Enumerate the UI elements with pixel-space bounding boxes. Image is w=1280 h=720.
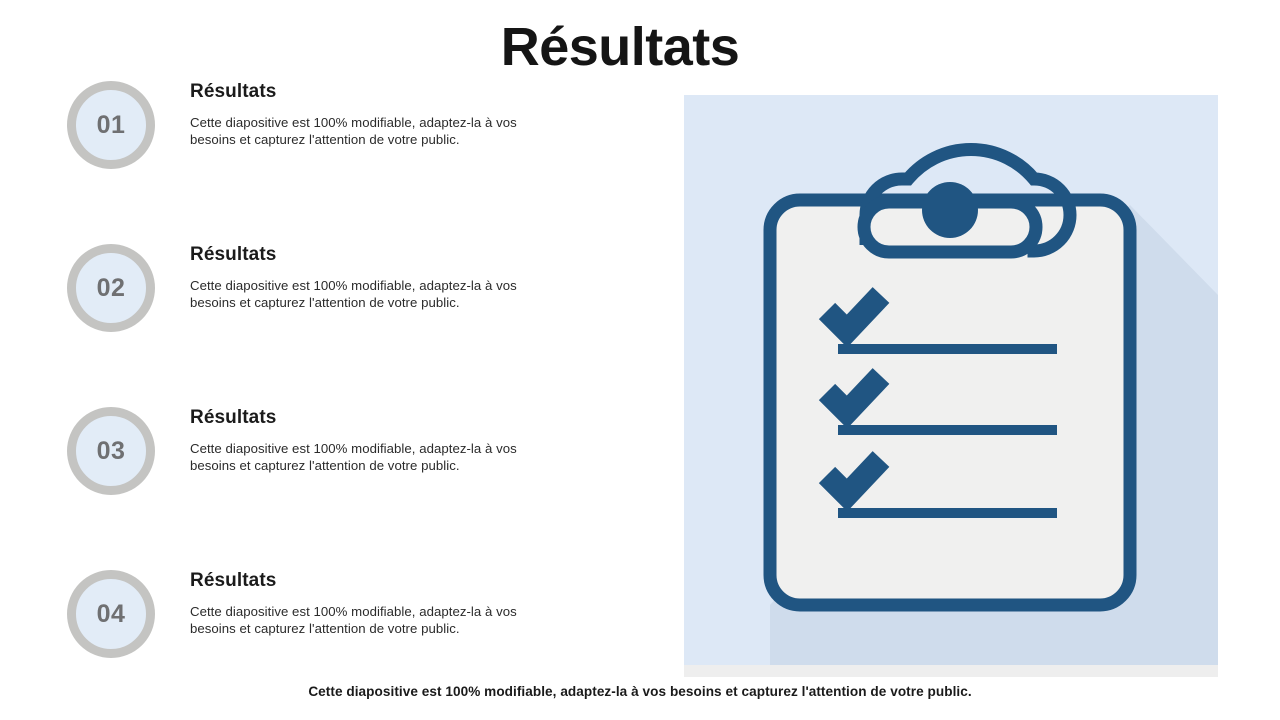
checklist-line	[838, 425, 1057, 435]
clipboard-clip-hole	[922, 182, 978, 238]
illustration-panel-wrapper	[684, 95, 1218, 665]
checklist-line	[838, 344, 1057, 354]
checklist-line	[838, 508, 1057, 518]
step-body: Cette diapositive est 100% modifiable, a…	[190, 604, 528, 638]
step-number-badge: 03	[67, 407, 155, 495]
step-heading: Résultats	[190, 570, 550, 593]
step-heading: Résultats	[190, 407, 550, 430]
step-body: Cette diapositive est 100% modifiable, a…	[190, 115, 528, 149]
step-body: Cette diapositive est 100% modifiable, a…	[190, 441, 528, 475]
list-item[interactable]: 02 Résultats Cette diapositive est 100% …	[0, 244, 660, 344]
step-number-label: 02	[97, 276, 126, 301]
clipboard-checklist-icon	[684, 95, 1218, 665]
step-number-label: 04	[97, 602, 126, 627]
panel-drop-shadow	[684, 665, 1218, 677]
step-text-block: Résultats Cette diapositive est 100% mod…	[190, 244, 550, 312]
step-number-label: 03	[97, 439, 126, 464]
list-item[interactable]: 01 Résultats Cette diapositive est 100% …	[0, 81, 660, 181]
step-text-block: Résultats Cette diapositive est 100% mod…	[190, 570, 550, 638]
step-heading: Résultats	[190, 81, 550, 104]
step-body: Cette diapositive est 100% modifiable, a…	[190, 278, 528, 312]
slide-canvas: Résultats 01 Résultats Cette diapositive…	[0, 0, 1280, 720]
step-heading: Résultats	[190, 244, 550, 267]
step-text-block: Résultats Cette diapositive est 100% mod…	[190, 81, 550, 149]
steps-list: 01 Résultats Cette diapositive est 100% …	[0, 0, 660, 720]
footer-note: Cette diapositive est 100% modifiable, a…	[0, 684, 1280, 699]
list-item[interactable]: 03 Résultats Cette diapositive est 100% …	[0, 407, 660, 507]
step-number-badge: 02	[67, 244, 155, 332]
step-text-block: Résultats Cette diapositive est 100% mod…	[190, 407, 550, 475]
step-number-badge: 01	[67, 81, 155, 169]
step-number-label: 01	[97, 113, 126, 138]
list-item[interactable]: 04 Résultats Cette diapositive est 100% …	[0, 570, 660, 670]
step-number-badge: 04	[67, 570, 155, 658]
